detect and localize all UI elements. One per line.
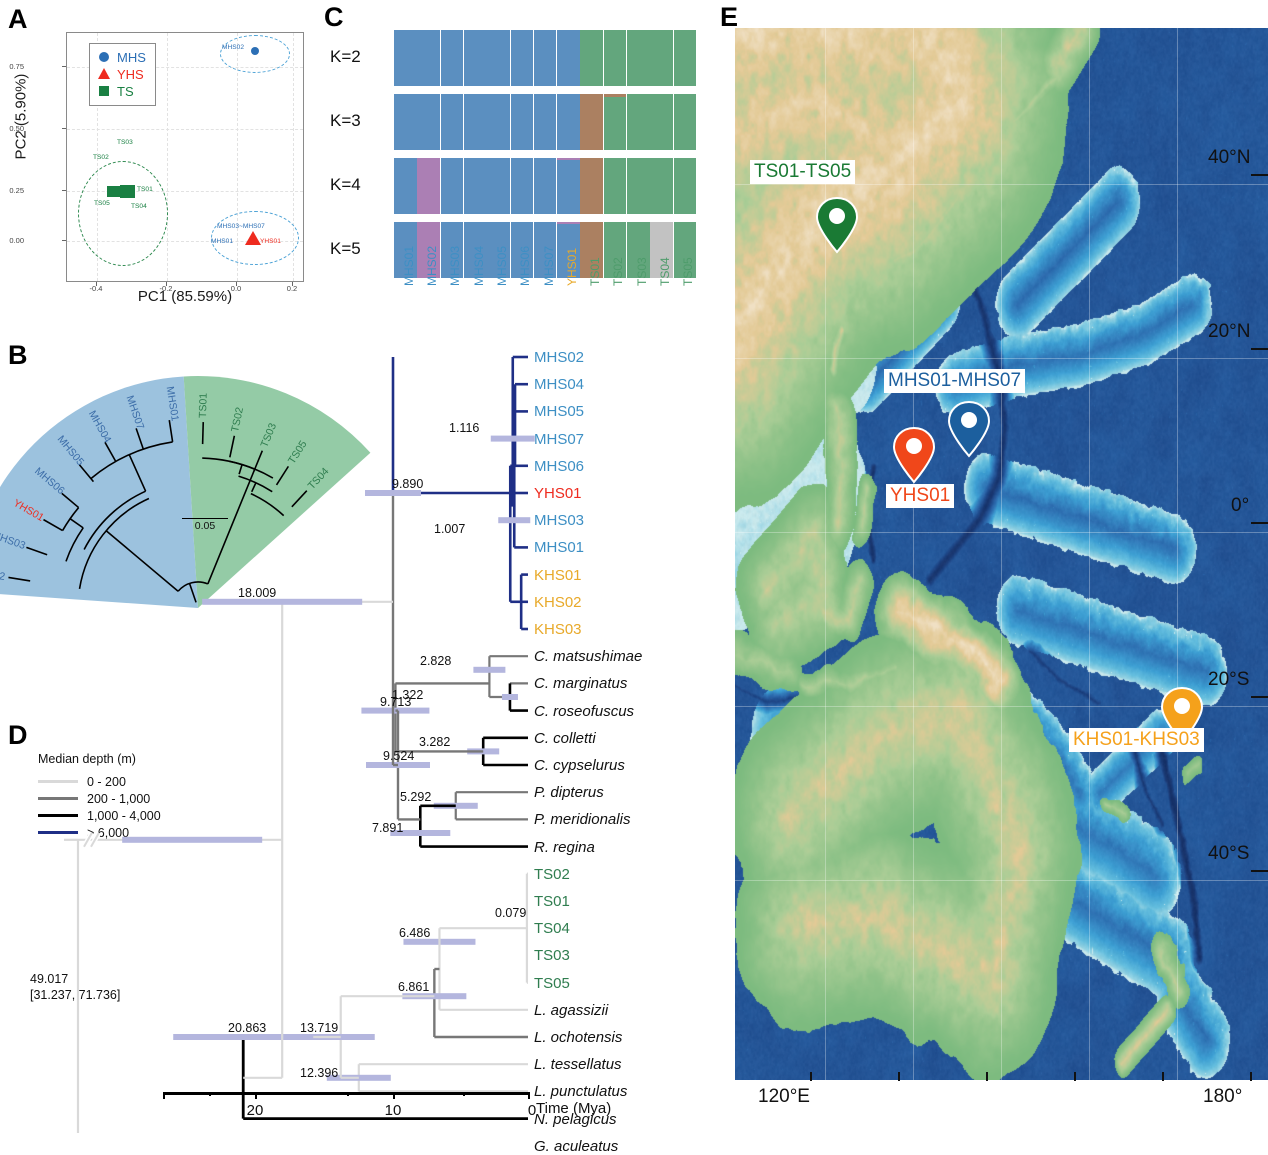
node-hpd-bar <box>122 837 262 843</box>
map-graticule-v <box>1001 28 1002 1080</box>
time-axis-label-10: 10 <box>373 1102 413 1119</box>
tree-node-age: 7.891 <box>372 821 403 835</box>
map-pin-ts[interactable] <box>815 196 859 259</box>
root-age-hpd: [31.237, 71.736] <box>30 988 150 1004</box>
tree-node-age: 5.292 <box>400 790 431 804</box>
map-lon-label-120e: 120°E <box>758 1086 810 1108</box>
map-lat-tick-40s <box>1251 870 1268 872</box>
tree-node-age: 6.861 <box>398 980 429 994</box>
time-axis-tick <box>163 1092 165 1099</box>
tree-tip-label: MHS05 <box>534 404 584 419</box>
tree-tip-label: MHS02 <box>534 350 584 365</box>
tree-tip-label: MHS03 <box>534 513 584 528</box>
map-marker-label-ts[interactable]: TS01-TS05 <box>750 160 855 184</box>
map-marker-label-mhs[interactable]: MHS01-MHS07 <box>884 369 1025 393</box>
lat-20n-text: 20°N <box>1208 321 1250 342</box>
tree-node-age: 2.828 <box>420 654 451 668</box>
time-tree-svg <box>0 0 720 1133</box>
node-hpd-bar <box>473 667 505 673</box>
panel-e-map: E 40°N 20°N 0° 20°S 40°S TS01-TS05 MHS01… <box>720 0 1268 1133</box>
tree-node-age: 20.863 <box>228 1021 266 1035</box>
tree-tip-label: KHS02 <box>534 595 582 610</box>
tree-tip-label: TS03 <box>534 948 570 963</box>
time-axis-label-20: 20 <box>235 1102 275 1119</box>
tree-tip-label: TS05 <box>534 976 570 991</box>
tree-tip-label: TS01 <box>534 894 570 909</box>
time-axis-tick <box>393 1092 395 1099</box>
node-hpd-bar <box>491 436 535 442</box>
map-lon-tick <box>1074 1072 1076 1081</box>
time-axis-tick-minor <box>209 1092 211 1096</box>
tree-node-age: 1.116 <box>449 421 479 435</box>
tree-tip-label: MHS07 <box>534 432 584 447</box>
tree-node-age: 9.524 <box>383 749 414 763</box>
tree-node-age: 12.396 <box>300 1066 338 1080</box>
map-graticule-h <box>735 532 1268 533</box>
map-graticule-v <box>1089 28 1090 1080</box>
map-lat-tick-20n <box>1251 348 1268 350</box>
tree-tip-label: MHS04 <box>534 377 584 392</box>
map-lon-tick <box>810 1072 812 1081</box>
node-hpd-bar <box>202 599 362 605</box>
tree-tip-label: YHS01 <box>534 486 582 501</box>
map-graticule-h <box>735 880 1268 881</box>
map-lat-tick-0 <box>1251 522 1268 524</box>
time-axis-tick-minor <box>463 1092 465 1096</box>
map-pin-yhs[interactable] <box>892 426 936 489</box>
map-lon-tick <box>986 1072 988 1081</box>
tree-node-age: 1.007 <box>434 522 465 536</box>
root-age-value: 49.017 <box>30 972 150 988</box>
tree-tip-label: C. matsushimae <box>534 649 642 664</box>
time-axis-line <box>163 1092 528 1095</box>
map-lon-tick <box>1250 1072 1252 1081</box>
time-axis-tick <box>255 1092 257 1099</box>
tree-tip-label: G. aculeatus <box>534 1139 618 1154</box>
tree-tip-label: C. colletti <box>534 731 596 746</box>
node-hpd-bar <box>498 517 530 523</box>
tree-tip-label: R. regina <box>534 840 595 855</box>
tree-tip-label: MHS01 <box>534 540 584 555</box>
tree-tip-label: TS04 <box>534 921 570 936</box>
time-axis-tick-minor <box>347 1092 349 1096</box>
map-graticule-h <box>735 358 1268 359</box>
tree-tip-label: TS02 <box>534 867 570 882</box>
node-hpd-bar <box>502 694 518 700</box>
map-lon-tick <box>898 1072 900 1081</box>
map-lat-tick-20s <box>1251 696 1268 698</box>
map-lon-tick <box>1162 1072 1164 1081</box>
tree-node-age: 3.282 <box>419 735 450 749</box>
tree-tip-label: C. cypselurus <box>534 758 625 773</box>
lat-0-text: 0° <box>1231 495 1249 516</box>
map-graticule-v <box>825 28 826 1080</box>
lat-40n-text: 40°N <box>1208 147 1250 168</box>
lat-40s-text: 40°S <box>1208 843 1249 864</box>
lat-20s-text: 20°S <box>1208 669 1249 690</box>
map-lat-tick-40n <box>1251 174 1268 176</box>
tree-node-age: 9.713 <box>380 695 411 709</box>
time-axis-title: Time (Mya) <box>536 1100 611 1117</box>
map-graticule-v <box>913 28 914 1080</box>
tree-tip-label: KHS03 <box>534 622 582 637</box>
tree-tip-label: P. dipterus <box>534 785 604 800</box>
tree-node-age: 18.009 <box>238 586 276 600</box>
tree-node-age: 0.079 <box>495 906 526 920</box>
root-age-label: 49.017 [31.237, 71.736] <box>30 972 150 1003</box>
map-lat-label-20n: 20°N <box>1208 321 1250 343</box>
map-lat-label-40s: 40°S <box>1208 843 1249 865</box>
map-canvas-container[interactable] <box>735 28 1268 1080</box>
tree-node-age: 9.890 <box>392 477 423 491</box>
tree-tip-label: L. tessellatus <box>534 1057 622 1072</box>
tree-tip-label: KHS01 <box>534 568 582 583</box>
map-lat-label-40n: 40°N <box>1208 147 1250 169</box>
map-pin-mhs[interactable] <box>947 400 991 463</box>
tree-tip-label: P. meridionalis <box>534 812 630 827</box>
tree-tip-label: L. punctulatus <box>534 1084 627 1099</box>
tree-tip-label: MHS06 <box>534 459 584 474</box>
tree-node-age: 6.486 <box>399 926 430 940</box>
map-lat-label-20s: 20°S <box>1208 669 1249 691</box>
map-lon-label-180: 180° <box>1203 1086 1242 1108</box>
tree-tip-label: L. agassizii <box>534 1003 608 1018</box>
time-axis-tick <box>528 1092 530 1099</box>
tree-tip-label: L. ochotensis <box>534 1030 622 1045</box>
map-graticule-v <box>1177 28 1178 1080</box>
tree-tip-label: C. roseofuscus <box>534 704 634 719</box>
map-marker-label-yhs[interactable]: YHS01 <box>886 484 954 508</box>
map-lat-label-0: 0° <box>1231 495 1249 517</box>
map-marker-label-khs[interactable]: KHS01-KHS03 <box>1069 728 1204 752</box>
tree-node-age: 13.719 <box>300 1021 338 1035</box>
tree-tip-label: C. marginatus <box>534 676 627 691</box>
map-graticule-h <box>735 184 1268 185</box>
